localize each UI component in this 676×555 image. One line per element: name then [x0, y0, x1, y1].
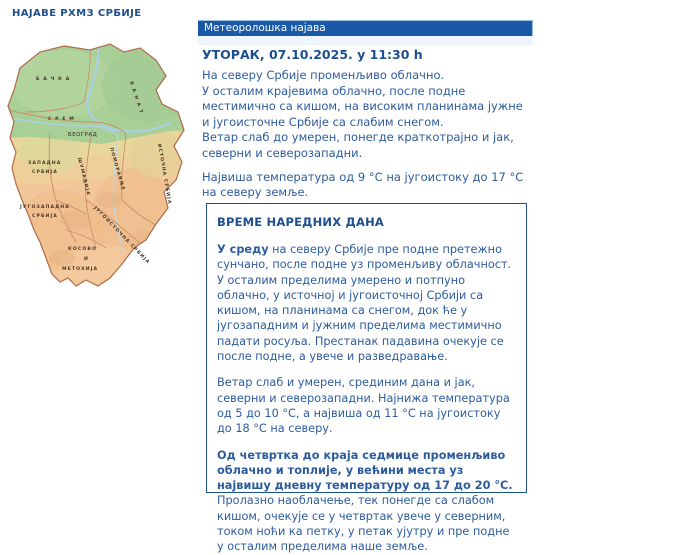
forecast-text: На северу Србије променљиво облачно. У о… [202, 68, 527, 201]
forecast-paragraph-temperature: Највиша температура од 9 °C на југоисток… [202, 170, 527, 201]
outlook-heading: ВРЕМЕ НАРЕДНИХ ДАНА [217, 215, 526, 229]
forecast-line-2: У осталим крајевима облачно, после подне… [202, 84, 523, 129]
outlook-text: У среду на северу Србије пре подне прете… [217, 242, 516, 555]
outlook-thursday-highlight: Од четвртка до краја седмице променљиво … [217, 449, 513, 493]
announcement-header-underbar [198, 36, 533, 45]
map-label-zapadna-srbija-line2: СРБИЈА [32, 169, 58, 175]
forecast-line-3: Ветар слаб до умерен, понегде краткотрај… [202, 130, 514, 160]
outlook-thursday-text: Пролазно наоблачење, тек понегде са слаб… [217, 494, 509, 553]
page-title: НАЈАВЕ РХМЗ СРБИЈЕ [12, 8, 142, 19]
map-label-jugozapadna-line2: СРБИЈА [32, 213, 58, 219]
outlook-paragraph-thursday: Од четвртка до краја седмице променљиво … [217, 448, 516, 555]
serbia-map[interactable]: Б А Ч К А Б А Н А Т С Р Е М БЕОГРАД ЗАПА… [6, 34, 194, 302]
map-label-backa: Б А Ч К А [36, 76, 70, 82]
map-label-kosovo-line2: И [84, 256, 89, 262]
map-label-kosovo-line3: МЕТОХИЈА [62, 266, 98, 272]
announcement-header-title: Метеоролошка најава [198, 21, 532, 36]
outlook-paragraph-wednesday: У среду на северу Србије пре подне прете… [217, 242, 516, 364]
outlook-wednesday-text: на северу Србије пре подне претежно сунч… [217, 243, 511, 363]
forecast-line-1: На северу Србије променљиво облачно. [202, 68, 444, 82]
outlook-wednesday-label: У среду [217, 243, 269, 256]
map-label-beograd: БЕОГРАД [68, 132, 97, 138]
forecast-paragraph-north: На северу Србије променљиво облачно. У о… [202, 68, 527, 162]
map-label-zapadna-srbija-line1: ЗАПАДНА [28, 160, 61, 166]
announcement-header-bar: Метеоролошка најава [198, 20, 533, 36]
map-label-kosovo-line1: КОСОВО [68, 246, 97, 252]
map-label-srem: С Р Е М [48, 116, 75, 122]
map-label-jugozapadna-line1: ЈУГОЗАПАДНА [19, 204, 70, 210]
forecast-issue-datetime: УТОРАК, 07.10.2025. у 11:30 h [202, 47, 423, 62]
forecast-panel: Метеоролошка најава УТОРАК, 07.10.2025. … [195, 0, 676, 507]
outlook-paragraph-wednesday-wind: Ветар слаб и умерен, срединим дана и јак… [217, 375, 516, 436]
outlook-box: ВРЕМЕ НАРЕДНИХ ДАНА У среду на северу Ср… [206, 203, 527, 493]
left-panel: НАЈАВЕ РХМЗ СРБИЈЕ [0, 0, 195, 507]
